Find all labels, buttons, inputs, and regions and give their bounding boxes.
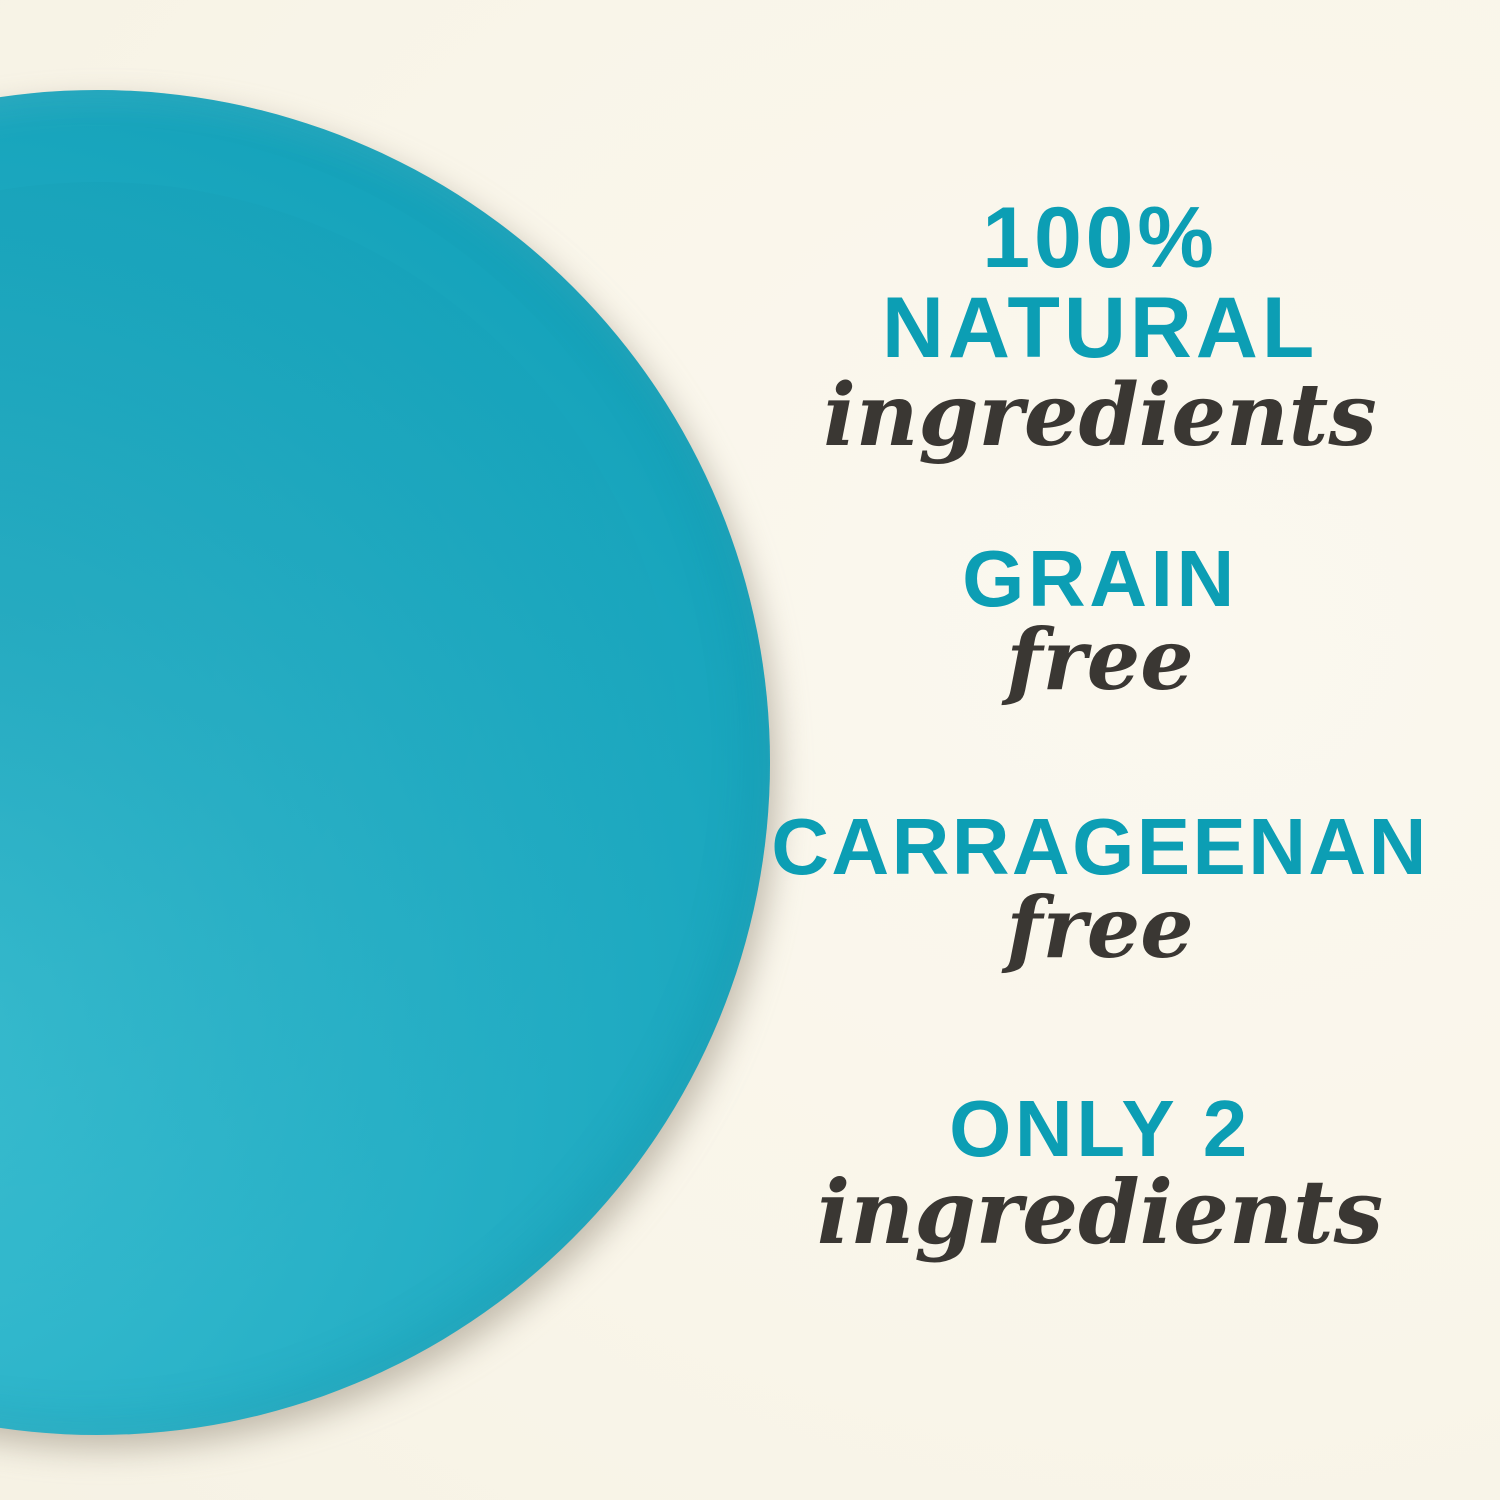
claim-script-line: free: [700, 886, 1500, 970]
product-claims-panel: 100% NATURAL ingredients GRAIN free CARR…: [0, 0, 1500, 1500]
claim-only-2-ingredients: ONLY 2 ingredients: [700, 1090, 1500, 1256]
claim-grain-free: GRAIN free: [700, 540, 1500, 702]
claim-headline-line: GRAIN: [700, 540, 1500, 618]
claim-carrageenan-free: CARRAGEENAN free: [700, 808, 1500, 970]
claim-headline-line: NATURAL: [700, 286, 1500, 370]
claims-column: 100% NATURAL ingredients GRAIN free CARR…: [700, 0, 1500, 1500]
product-photo: [0, 90, 770, 1435]
claim-headline-line: ONLY 2: [700, 1090, 1500, 1168]
claim-script-line: free: [700, 618, 1500, 702]
claim-headline-line: CARRAGEENAN: [700, 808, 1500, 886]
claim-script-line: ingredients: [700, 1168, 1500, 1256]
claim-headline-line: 100%: [700, 196, 1500, 280]
claim-script-line: ingredients: [700, 373, 1500, 459]
claim-natural-ingredients: 100% NATURAL ingredients: [700, 196, 1500, 459]
